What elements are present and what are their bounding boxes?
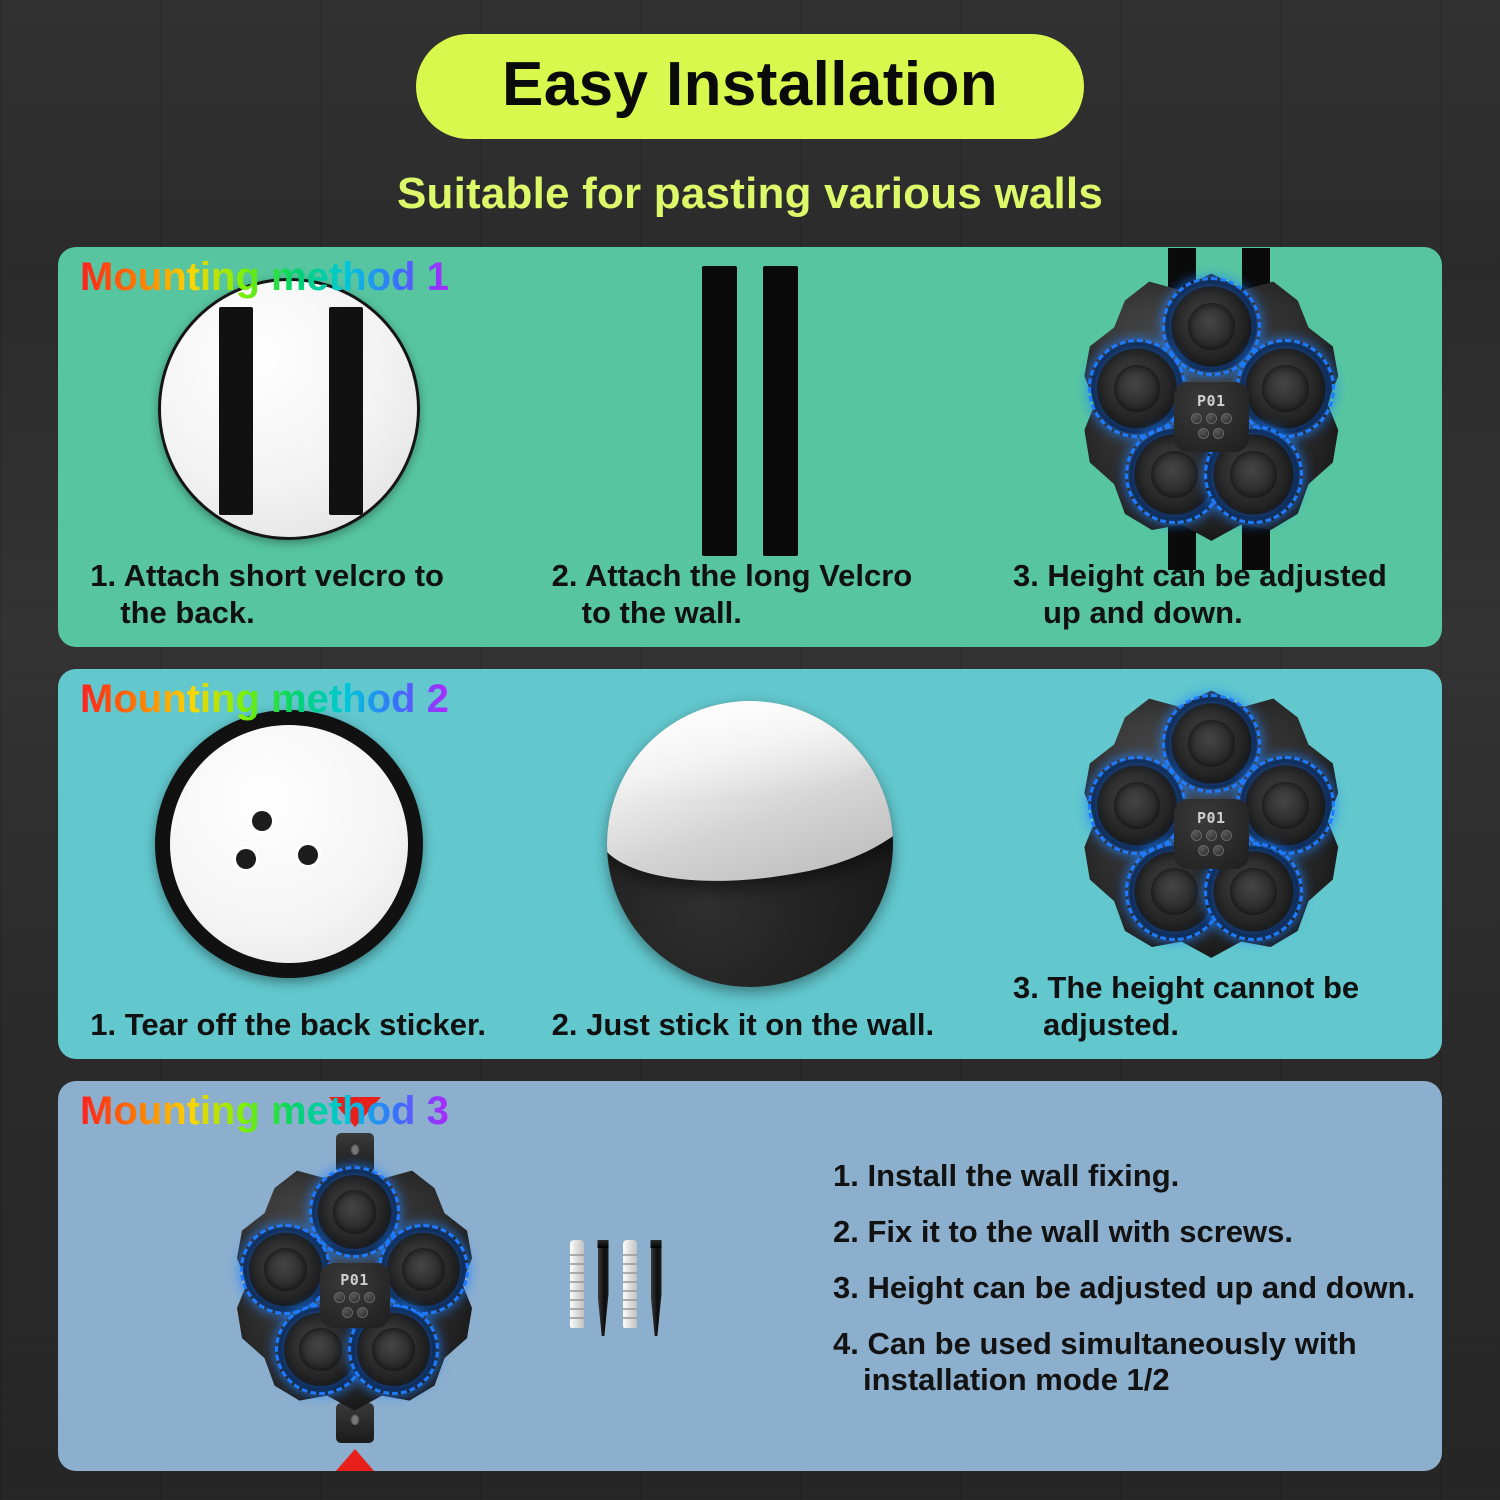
screw-2 (651, 1240, 662, 1336)
mounting-method-2-label: Mounting method 2 (80, 677, 449, 722)
velcro-strip-left (219, 307, 253, 515)
velcro-strip-right (329, 307, 363, 515)
device-control-panel: P01 (1174, 799, 1250, 869)
methods-container: Mounting method 1 1. Attach short velcro… (0, 219, 1500, 1471)
sticker-hole-2 (236, 849, 256, 869)
method-1-step-2: 2. Attach the long Velcro to the wall. (519, 259, 980, 647)
method-1-step-3: P01 (981, 259, 1442, 647)
method-2-step-3: P01 (981, 681, 1442, 1059)
page-subtitle: Suitable for pasting various walls (0, 169, 1500, 219)
instruction-item: 2. Fix it to the wall with screws. (833, 1214, 1422, 1250)
mounting-method-3-panel: Mounting method 3 P01 (58, 1081, 1442, 1471)
device-stuck-illustration: P01 (981, 681, 1442, 970)
device-screen-label: P01 (340, 1273, 369, 1288)
mounting-method-1-label: Mounting method 1 (80, 255, 449, 300)
sticker-hole-1 (252, 811, 272, 831)
device-screen-label: P01 (1197, 394, 1226, 409)
page-header: Easy Installation Suitable for pasting v… (0, 0, 1500, 219)
device-control-panel: P01 (1174, 382, 1250, 452)
step-caption: 1. Tear off the back sticker. (90, 1007, 487, 1060)
step-caption: 3. Height can be adjusted up and down. (1013, 558, 1410, 647)
instruction-item: 3. Height can be adjusted up and down. (833, 1270, 1422, 1306)
method-1-step-1: 1. Attach short velcro to the back. (58, 259, 519, 647)
punch-pad-right (1244, 346, 1328, 430)
punch-pad-top (316, 1173, 394, 1251)
punch-pad-right (385, 1231, 463, 1309)
long-velcro-illustration (519, 259, 980, 558)
sticker-surface (170, 725, 408, 963)
screw-1 (598, 1240, 609, 1336)
back-sticker-illustration (58, 681, 519, 1006)
sticker-hole-3 (298, 845, 318, 865)
bluetooth-button-icon (364, 1292, 375, 1303)
peeling-film (607, 701, 893, 903)
step-caption: 2. Just stick it on the wall. (552, 1007, 949, 1060)
punch-pad-left (1095, 763, 1179, 847)
method-3-illustration: P01 (58, 1163, 833, 1413)
mode-button-icon (1206, 830, 1217, 841)
boxing-machine-device: P01 (230, 1163, 480, 1413)
step-caption: 2. Attach the long Velcro to the wall. (552, 558, 949, 647)
volume-down-button-icon (1198, 428, 1209, 439)
instruction-item: 4. Can be used simultaneously with insta… (833, 1326, 1422, 1398)
mounting-hardware (570, 1240, 662, 1336)
boxing-machine-device: P01 (1076, 691, 1346, 961)
punch-pad-top (1169, 701, 1253, 785)
power-button-icon (1191, 830, 1202, 841)
volume-up-button-icon (1213, 428, 1224, 439)
short-velcro-illustration (58, 259, 519, 558)
long-velcro-strip-2 (763, 266, 798, 556)
bluetooth-button-icon (1221, 413, 1232, 424)
volume-down-button-icon (342, 1307, 353, 1318)
mounting-method-1-panel: Mounting method 1 1. Attach short velcro… (58, 247, 1442, 647)
arrow-up-icon (329, 1449, 381, 1471)
device-control-panel: P01 (320, 1263, 390, 1328)
volume-up-button-icon (1213, 845, 1224, 856)
mounting-method-3-label: Mounting method 3 (80, 1089, 449, 1134)
peeling-sticker-illustration (519, 681, 980, 1006)
step-caption: 3. The height cannot be adjusted. (1013, 970, 1410, 1059)
punch-pad-right (1244, 763, 1328, 847)
method-2-step-1: 1. Tear off the back sticker. (58, 681, 519, 1059)
sticker-disc (155, 710, 423, 978)
punch-pad-top (1169, 284, 1253, 368)
method-3-instructions: 1. Install the wall fixing. 2. Fix it to… (833, 1158, 1442, 1418)
mode-button-icon (349, 1292, 360, 1303)
mounting-method-2-panel: Mounting method 2 1. Tear off the back s… (58, 669, 1442, 1059)
long-velcro-strip-1 (702, 266, 737, 556)
power-button-icon (1191, 413, 1202, 424)
instruction-item: 1. Install the wall fixing. (833, 1158, 1422, 1194)
device-on-velcro-illustration: P01 (981, 259, 1442, 558)
bluetooth-button-icon (1221, 830, 1232, 841)
step-caption: 1. Attach short velcro to the back. (90, 558, 487, 647)
punch-pad-left (247, 1231, 325, 1309)
volume-up-button-icon (357, 1307, 368, 1318)
boxing-machine-device: P01 (1076, 274, 1346, 544)
mode-button-icon (1206, 413, 1217, 424)
volume-down-button-icon (1198, 845, 1209, 856)
punch-pad-left (1095, 346, 1179, 430)
device-screen-label: P01 (1197, 811, 1226, 826)
wall-anchor-1 (570, 1240, 584, 1328)
page-title: Easy Installation (416, 34, 1084, 139)
power-button-icon (334, 1292, 345, 1303)
wall-anchor-2 (623, 1240, 637, 1328)
method-2-step-2: 2. Just stick it on the wall. (519, 681, 980, 1059)
device-back-disc (158, 278, 420, 540)
peel-disc (607, 701, 893, 987)
